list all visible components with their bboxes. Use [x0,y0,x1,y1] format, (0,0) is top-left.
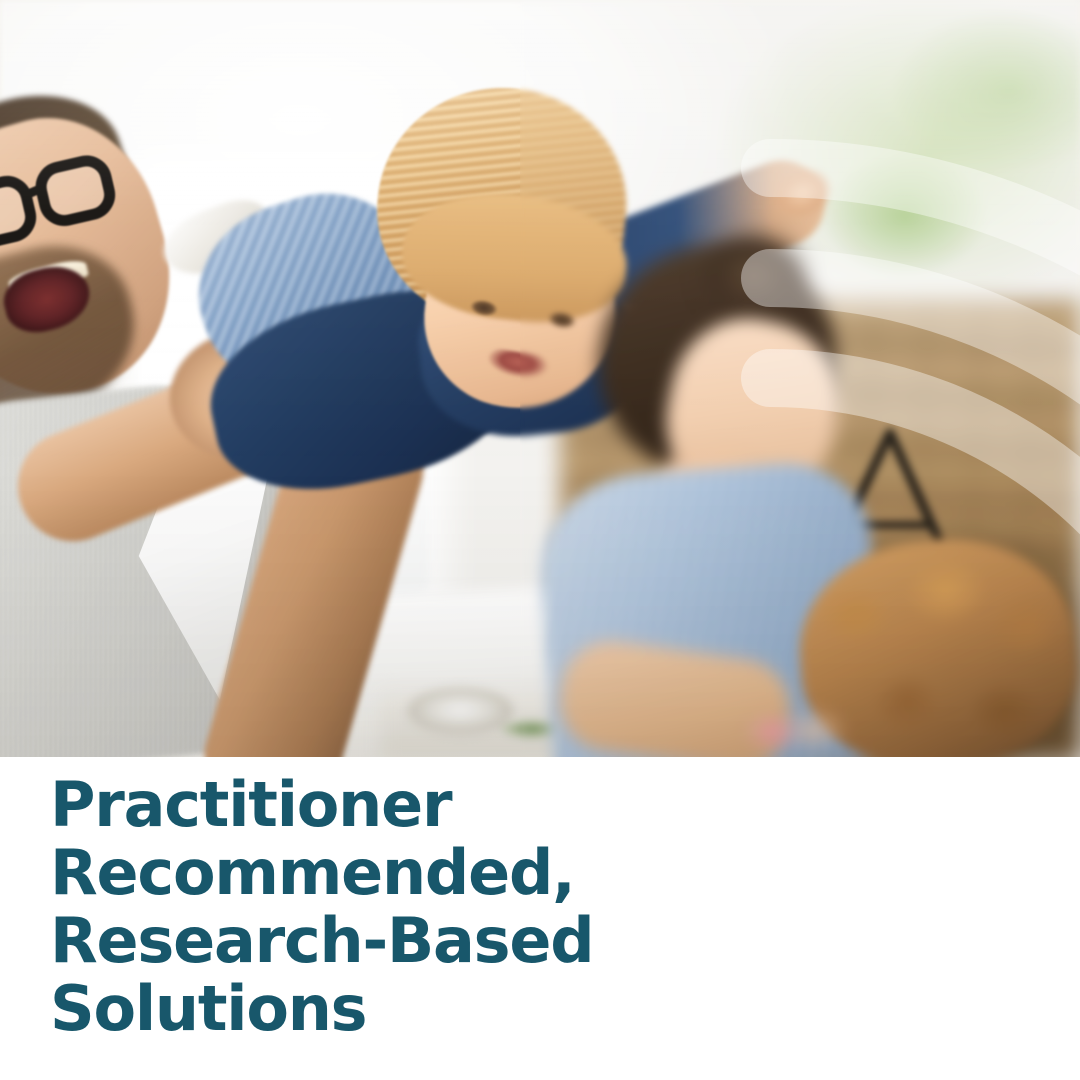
pink-object [742,710,804,754]
page-title: Practitioner Recommended, Research-Based… [50,771,650,1043]
headline-layer: Practitioner Recommended, Research-Based… [0,757,1080,1080]
mother-hair-bun [698,228,818,328]
poster-canvas: Practitioner Recommended, Research-Based… [0,0,1080,1080]
family-kitchen-photo [0,0,1080,757]
